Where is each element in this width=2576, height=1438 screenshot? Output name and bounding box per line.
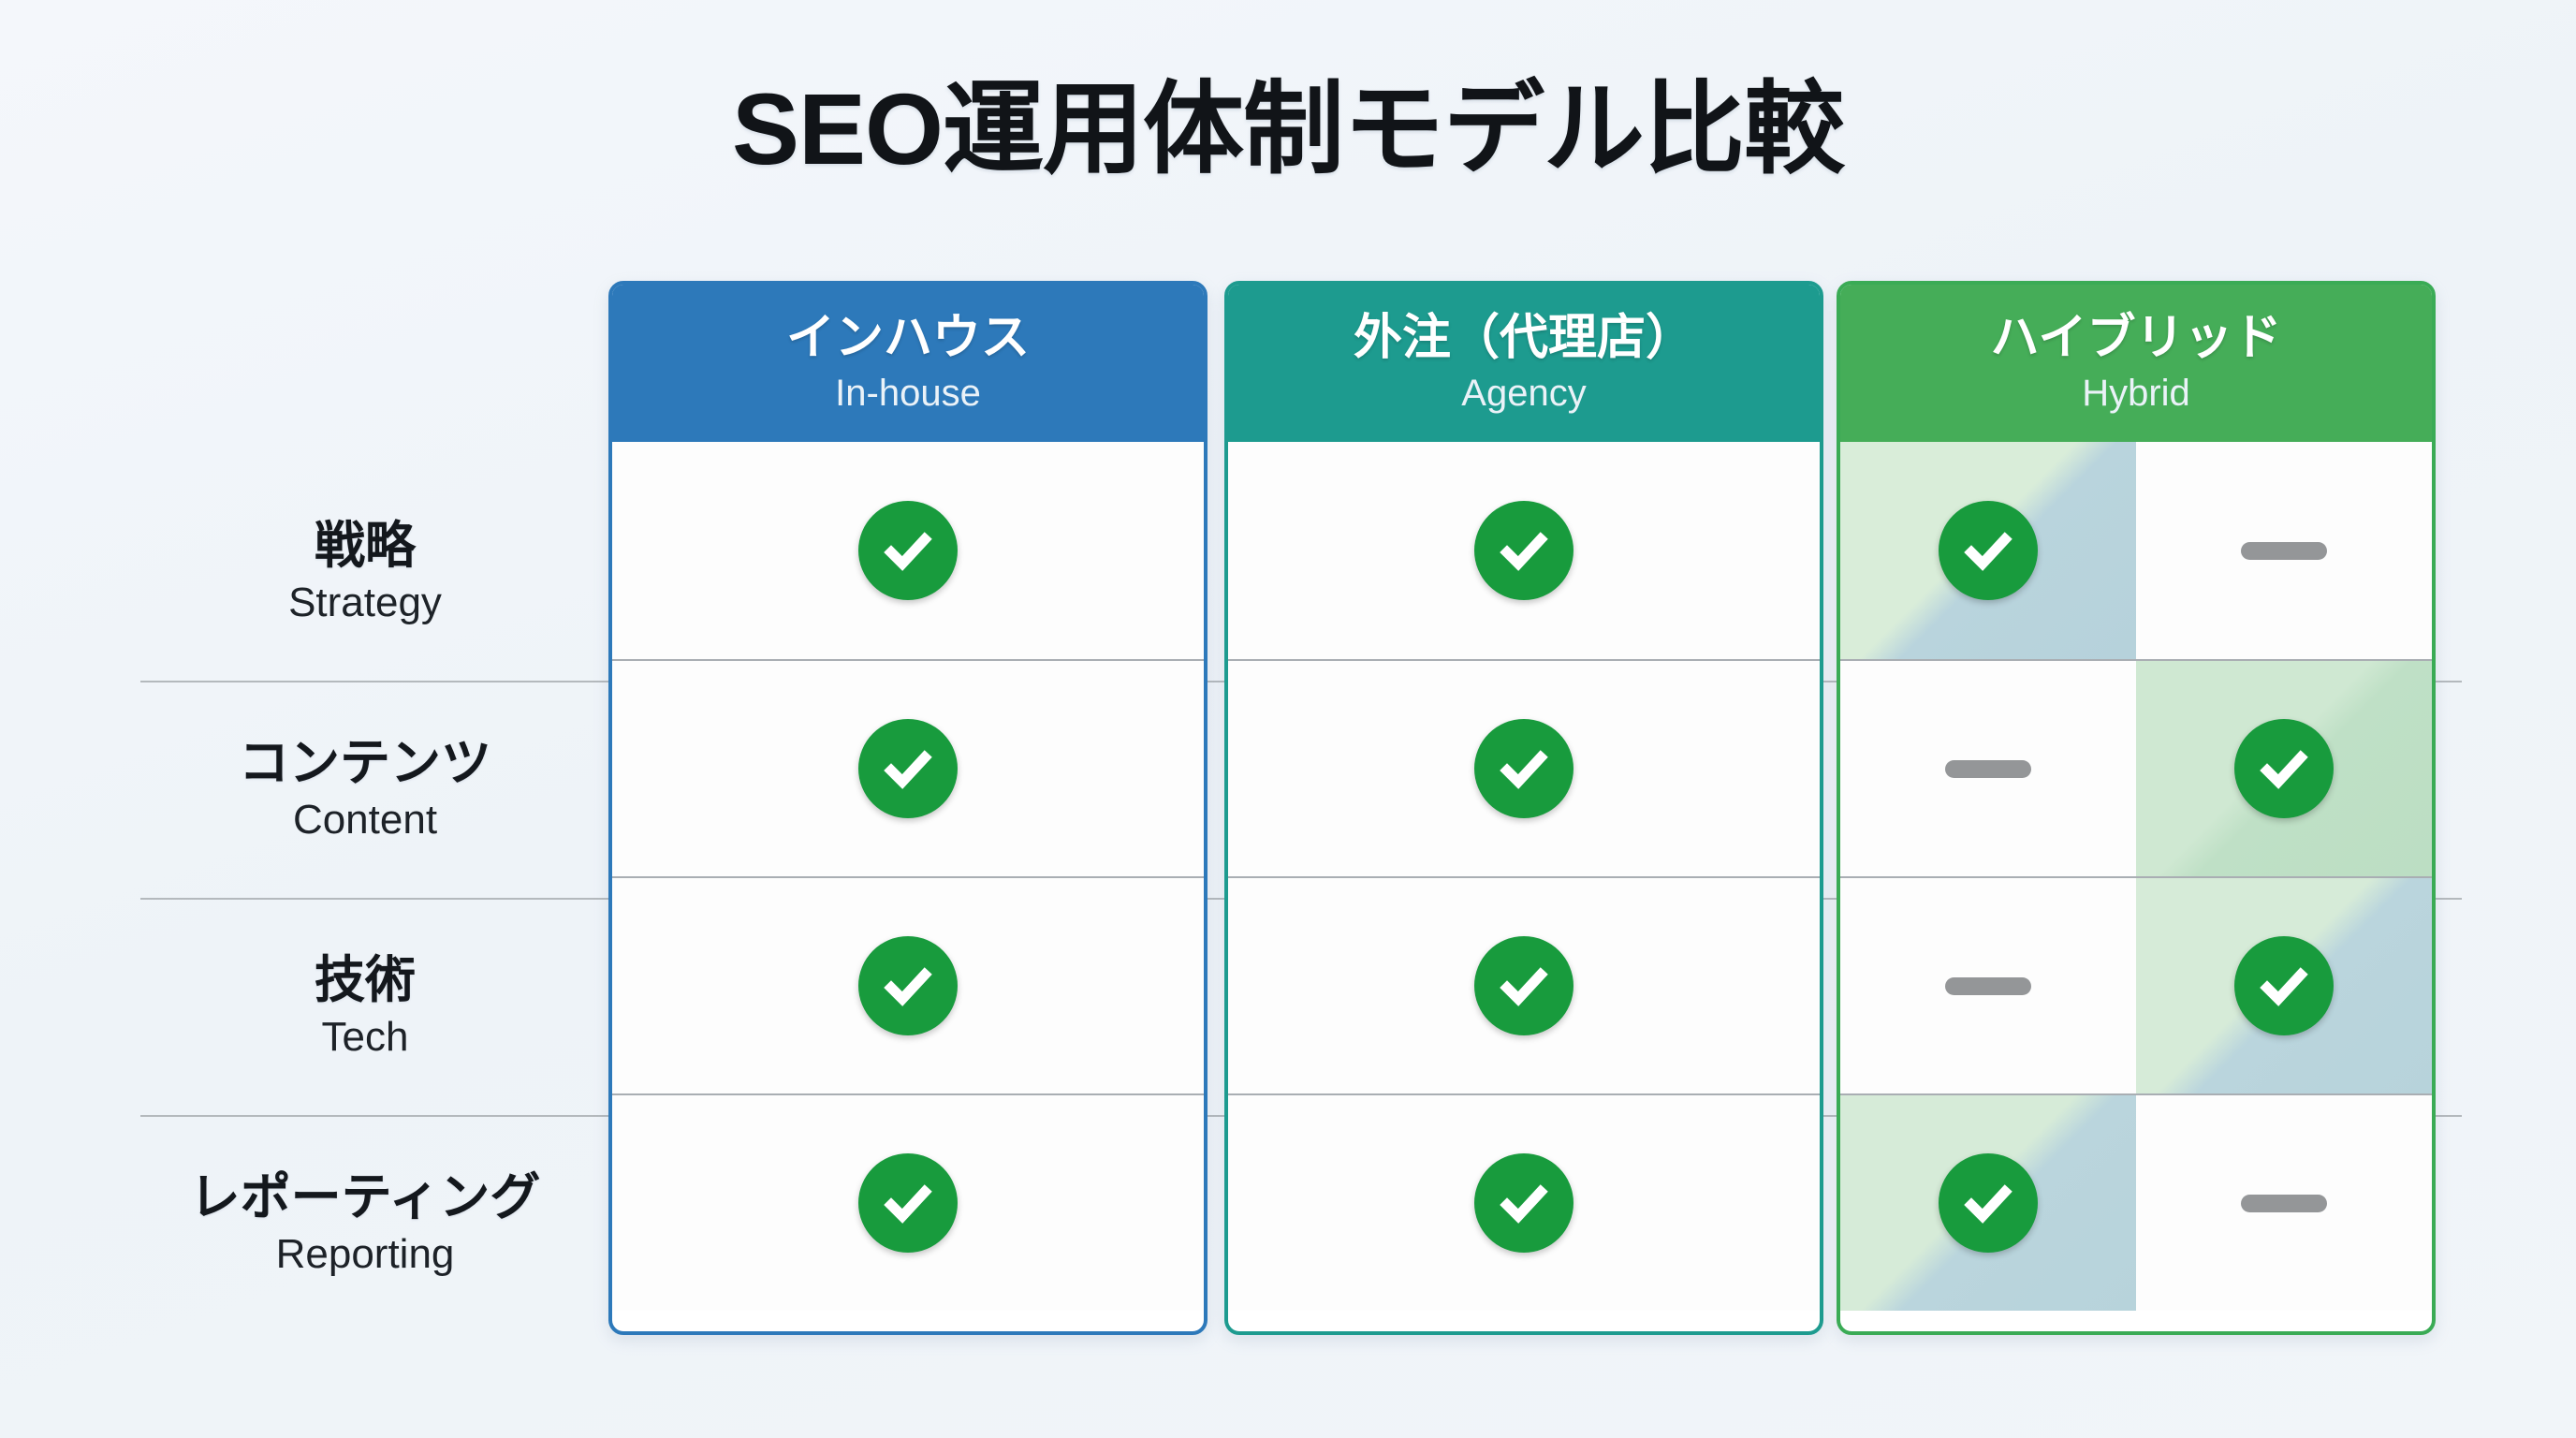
cell-hybrid-reporting-left (1840, 1095, 2136, 1311)
cell-hybrid-reporting (1840, 1093, 2432, 1311)
cell-inhouse-tech (612, 876, 1204, 1093)
cell-hybrid-strategy-left (1840, 442, 2136, 659)
check-circle-icon (858, 501, 958, 600)
check-circle-icon (1474, 501, 1573, 600)
row-header-en: Content (293, 796, 437, 844)
cell-hybrid-strategy-right (2136, 442, 2432, 659)
column-body-hybrid (1840, 442, 2432, 1331)
check-circle-icon (1474, 1153, 1573, 1253)
check-circle-icon (858, 1153, 958, 1253)
row-header-jp: 技術 (315, 952, 416, 1008)
column-header-hybrid: ハイブリッド Hybrid (1840, 285, 2432, 442)
check-circle-icon (1474, 936, 1573, 1035)
cell-agency-reporting (1228, 1093, 1820, 1311)
column-card-inhouse[interactable]: インハウス In-house (608, 281, 1207, 1335)
column-header-agency: 外注（代理店） Agency (1228, 285, 1820, 442)
check-circle-icon (1939, 501, 2038, 600)
column-body-inhouse (612, 442, 1204, 1331)
row-header-column: 戦略 Strategy コンテンツ Content 技術 Tech レポーティン… (131, 463, 599, 1334)
cell-inhouse-reporting (612, 1093, 1204, 1311)
cell-hybrid-content-left (1840, 661, 2136, 876)
dash-icon (1945, 977, 2031, 995)
row-header-content: コンテンツ Content (131, 681, 599, 898)
row-header-strategy: 戦略 Strategy (131, 463, 599, 681)
row-header-jp: コンテンツ (239, 735, 491, 791)
row-header-en: Strategy (288, 579, 442, 626)
comparison-table: 戦略 Strategy コンテンツ Content 技術 Tech レポーティン… (0, 0, 2576, 1438)
dash-icon (2241, 1195, 2327, 1212)
cell-hybrid-tech (1840, 876, 2432, 1093)
cell-hybrid-strategy (1840, 442, 2432, 659)
row-header-jp: 戦略 (315, 518, 416, 574)
dash-icon (1945, 760, 2031, 778)
cell-agency-content (1228, 659, 1820, 876)
cell-agency-tech (1228, 876, 1820, 1093)
row-header-tech: 技術 Tech (131, 898, 599, 1115)
column-header-en: Agency (1461, 372, 1586, 415)
column-header-jp: 外注（代理店） (1354, 312, 1694, 365)
check-circle-icon (2234, 936, 2334, 1035)
comparison-infographic: SEO運用体制モデル比較 戦略 Strategy コンテンツ Content 技… (0, 0, 2576, 1438)
column-header-inhouse: インハウス In-house (612, 285, 1204, 442)
row-header-reporting: レポーティング Reporting (131, 1115, 599, 1332)
cell-hybrid-tech-left (1840, 878, 2136, 1093)
column-body-agency (1228, 442, 1820, 1331)
cell-inhouse-strategy (612, 442, 1204, 659)
column-header-jp: ハイブリッド (1991, 312, 2282, 365)
cell-inhouse-content (612, 659, 1204, 876)
check-circle-icon (858, 719, 958, 818)
check-circle-icon (2234, 719, 2334, 818)
cell-agency-strategy (1228, 442, 1820, 659)
column-card-agency[interactable]: 外注（代理店） Agency (1224, 281, 1823, 1335)
check-circle-icon (858, 936, 958, 1035)
column-header-en: Hybrid (2082, 372, 2190, 415)
cell-hybrid-content-right (2136, 661, 2432, 876)
cell-hybrid-content (1840, 659, 2432, 876)
row-header-en: Reporting (276, 1230, 455, 1278)
check-circle-icon (1939, 1153, 2038, 1253)
row-header-jp: レポーティング (190, 1169, 541, 1225)
column-card-hybrid[interactable]: ハイブリッド Hybrid (1837, 281, 2436, 1335)
column-header-jp: インハウス (786, 312, 1030, 365)
dash-icon (2241, 542, 2327, 560)
cell-hybrid-reporting-right (2136, 1095, 2432, 1311)
check-circle-icon (1474, 719, 1573, 818)
column-header-en: In-house (835, 372, 981, 415)
row-header-en: Tech (322, 1013, 409, 1061)
cell-hybrid-tech-right (2136, 878, 2432, 1093)
